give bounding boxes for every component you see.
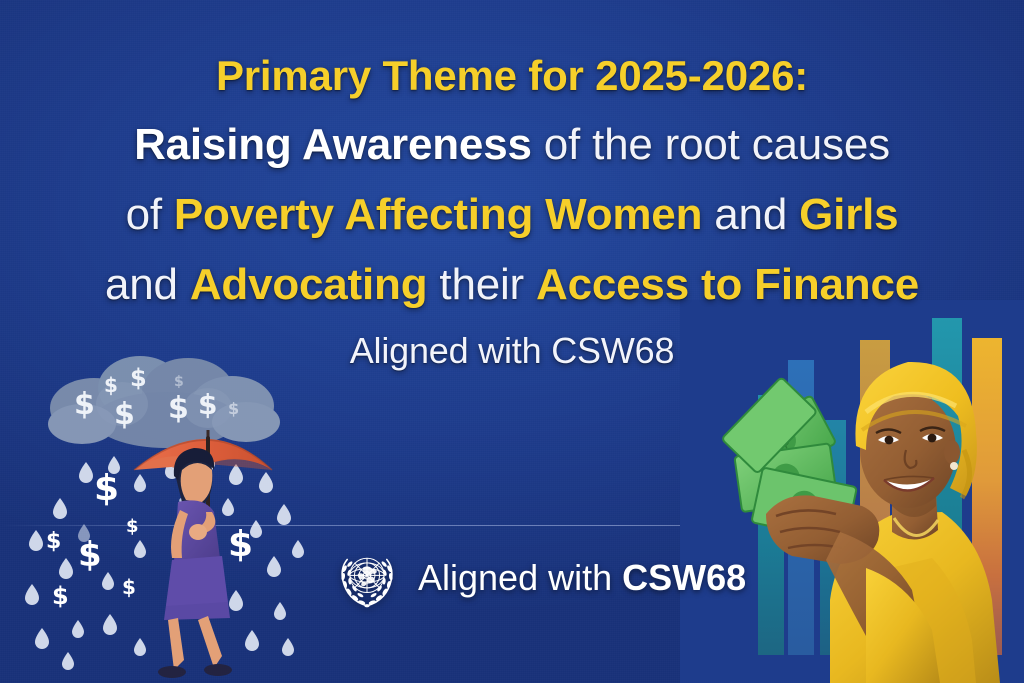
svg-text:$: $: [122, 575, 136, 599]
headline-line-2-emphasis: Raising Awareness: [134, 120, 532, 169]
svg-text:$: $: [126, 516, 139, 537]
headline-line-3-emphasis-2: Girls: [799, 190, 898, 239]
headline-block: Primary Theme for 2025-2026: Raising Awa…: [0, 55, 1024, 369]
svg-text:$: $: [94, 468, 119, 509]
headline-line-1: Primary Theme for 2025-2026:: [0, 55, 1024, 97]
headline-line-4: and Advocating their Access to Finance: [0, 263, 1024, 307]
headline-line-5: Aligned with CSW68: [0, 333, 1024, 369]
headline-line-2-rest: of the root causes: [532, 120, 890, 169]
woman-figure: [158, 448, 232, 678]
headline-line-4-emphasis-2: Access to Finance: [536, 260, 919, 309]
headline-line-3-lead: of: [126, 190, 174, 239]
svg-text:$: $: [104, 373, 118, 397]
headline-line-3-emphasis: Poverty Affecting Women: [174, 190, 702, 239]
aligned-with-badge-text: Aligned with CSW68: [418, 557, 746, 599]
headline-line-4-emphasis: Advocating: [190, 260, 428, 309]
poster-canvas: $ $ $: [0, 0, 1024, 683]
raindrops: [25, 450, 304, 670]
headline-line-3-mid: and: [702, 190, 799, 239]
svg-text:$: $: [198, 388, 217, 421]
svg-text:$: $: [228, 524, 253, 565]
headline-line-4-mid: their: [427, 260, 536, 309]
svg-text:$: $: [228, 399, 239, 418]
badge-prefix: Aligned with: [418, 557, 622, 598]
svg-text:$: $: [46, 529, 61, 554]
svg-text:$: $: [114, 397, 135, 432]
headline-line-4-lead: and: [105, 260, 190, 309]
svg-text:$: $: [52, 582, 69, 610]
money-rain-woman-umbrella: $ $ $ $ $ $ $ $ $ $ $ $ $ $ $ $: [22, 352, 322, 683]
headline-line-2: Raising Awareness of the root causes: [0, 123, 1024, 167]
svg-text:$: $: [74, 387, 95, 422]
badge-highlight: CSW68: [622, 557, 746, 598]
svg-text:$: $: [174, 374, 184, 390]
svg-text:$: $: [168, 391, 189, 426]
aligned-with-badge: Aligned with CSW68: [334, 545, 746, 611]
united-nations-emblem-icon: [334, 545, 400, 611]
headline-line-3: of Poverty Affecting Women and Girls: [0, 193, 1024, 237]
